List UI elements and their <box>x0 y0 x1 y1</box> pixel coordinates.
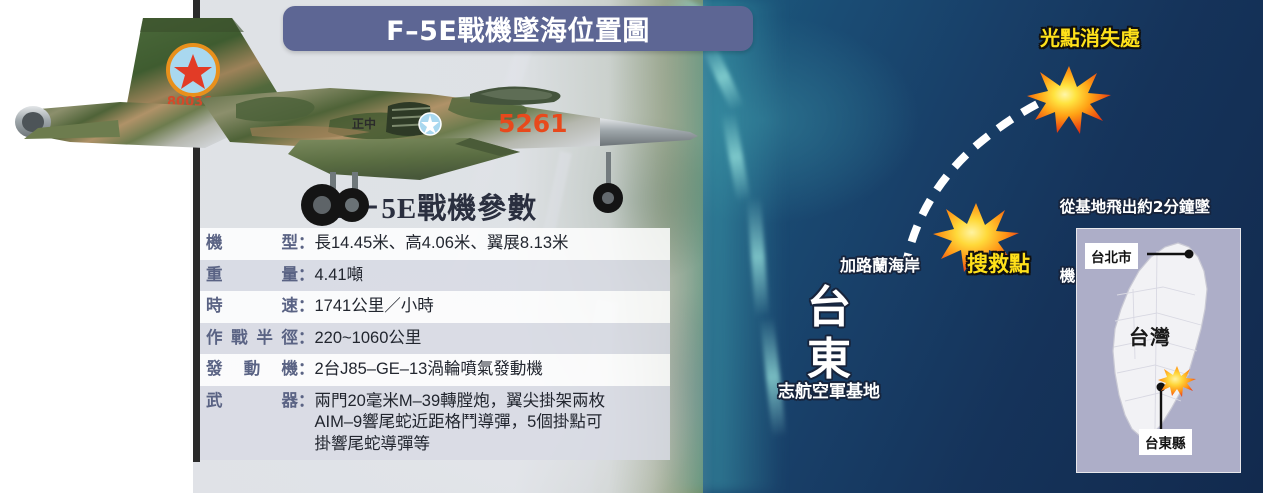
spec-row-value: 220~1060公里 <box>315 328 671 350</box>
aircraft-fuselage-number: 5261 <box>498 109 568 138</box>
spec-row-value-line: 兩門20毫米M–39轉膛炮，翼尖掛架兩枚 <box>315 391 661 413</box>
map-label-air-base: 志航空軍基地 <box>778 377 880 402</box>
inset-label-taiwan: 台灣 <box>1129 321 1171 350</box>
map-region-label-text: 台東 <box>778 282 882 386</box>
spec-row: 時 速 ： 1741公里／小時 <box>200 291 670 323</box>
spec-row-label: 重 量 <box>200 265 298 286</box>
map-note-crash-line1: 從基地飛出約2分鐘墜 <box>995 196 1210 219</box>
spec-row-colon: ： <box>298 296 315 317</box>
spec-row-value-line: 掛響尾蛇導彈等 <box>315 434 661 456</box>
inset-map-taiwan: 台北市 台東縣 台灣 <box>1076 228 1241 473</box>
starburst-vanish-point <box>1027 66 1111 134</box>
spec-row-value: 4.41噸 <box>315 265 671 287</box>
aircraft-main-landing-gear <box>301 172 369 226</box>
spec-row: 作戰半徑 ： 220~1060公里 <box>200 323 670 355</box>
title-banner: F–5E戰機墜海位置圖 <box>283 6 753 51</box>
aircraft-nose-cone <box>600 118 698 146</box>
map-label-vanish-point: 光點消失處 <box>1040 22 1140 51</box>
spec-table: 機 型 ： 長14.45米、高4.06米、翼展8.13米 重 量 ： 4.41噸… <box>200 228 670 460</box>
aircraft-nose-landing-gear <box>593 152 623 213</box>
spec-row-colon: ： <box>298 265 315 286</box>
spec-row-colon: ： <box>298 328 315 349</box>
spec-row-value: 2台J85–GE–13渦輪噴氣發動機 <box>315 359 671 381</box>
spec-row: 發 動 機 ： 2台J85–GE–13渦輪噴氣發動機 <box>200 354 670 386</box>
spec-row: 重 量 ： 4.41噸 <box>200 260 670 292</box>
spec-row: 武 器 ： 兩門20毫米M–39轉膛炮，翼尖掛架兩枚 AIM–9響尾蛇近距格鬥導… <box>200 386 670 461</box>
infographic-root: 台東 光點消失處 搜救點 加路蘭海岸 志航空軍基地 從基地飛出約2分鐘墜 機，距… <box>0 0 1263 493</box>
map-region-label-taitung: 台東 <box>778 178 882 490</box>
map-label-coast: 加路蘭海岸 <box>840 252 920 276</box>
spec-row-label: 發 動 機 <box>200 359 298 380</box>
spec-row-value-line: AIM–9響尾蛇近距格鬥導彈，5個掛點可 <box>315 412 661 434</box>
spec-row-label: 時 速 <box>200 296 298 317</box>
spec-row-value: 兩門20毫米M–39轉膛炮，翼尖掛架兩枚 AIM–9響尾蛇近距格鬥導彈，5個掛點… <box>315 391 671 456</box>
aircraft-fuselage-marking: 正中 <box>352 116 376 131</box>
spec-row-value: 1741公里／小時 <box>315 296 671 318</box>
inset-label-taipei: 台北市 <box>1085 243 1138 269</box>
spec-row-colon: ： <box>298 359 315 380</box>
page-title: F–5E戰機墜海位置圖 <box>386 9 650 48</box>
spec-row-label: 武 器 <box>200 391 298 412</box>
spec-row-colon: ： <box>298 391 315 412</box>
inset-label-taitung: 台東縣 <box>1139 429 1192 455</box>
spec-row-label: 作戰半徑 <box>200 328 298 349</box>
